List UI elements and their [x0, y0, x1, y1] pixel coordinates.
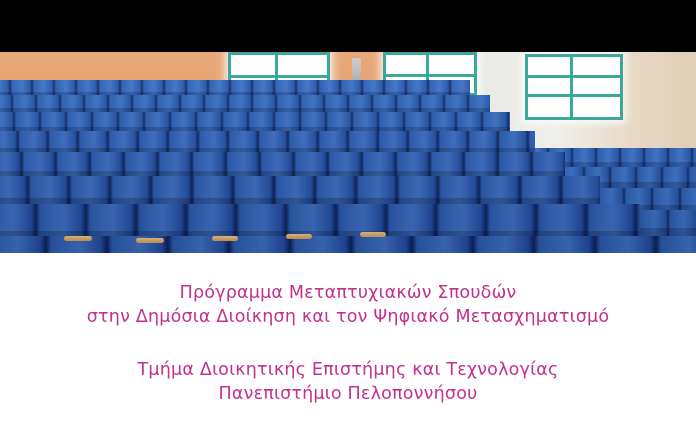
seat-row-foreground: [0, 236, 696, 253]
department-subtitle: Τμήμα Διοικητικής Επιστήμης και Τεχνολογ…: [0, 358, 696, 406]
presentation-slide: Πρόγραμμα Μεταπτυχιακών Σπουδών στην Δημ…: [0, 0, 696, 448]
auditorium-photo: [0, 52, 696, 253]
university-line: Πανεπιστήμιο Πελοποννήσου: [0, 382, 696, 406]
armrest: [212, 236, 238, 241]
program-title-line-1: Πρόγραμμα Μεταπτυχιακών Σπουδών: [0, 281, 696, 305]
department-line: Τμήμα Διοικητικής Επιστήμης και Τεχνολογ…: [0, 358, 696, 382]
armrest: [286, 234, 312, 239]
text-area: Πρόγραμμα Μεταπτυχιακών Σπουδών στην Δημ…: [0, 253, 696, 448]
armrest: [360, 232, 386, 237]
program-title-line-2: στην Δημόσια Διοίκηση και τον Ψηφιακό Με…: [0, 305, 696, 329]
seat-row: [0, 152, 565, 179]
seat-row: [0, 112, 510, 133]
armrest: [136, 238, 164, 243]
seat-block-main: [0, 80, 696, 253]
program-title: Πρόγραμμα Μεταπτυχιακών Σπουδών στην Δημ…: [0, 281, 696, 329]
letterbox-bar: [0, 0, 696, 52]
armrest: [64, 236, 92, 241]
